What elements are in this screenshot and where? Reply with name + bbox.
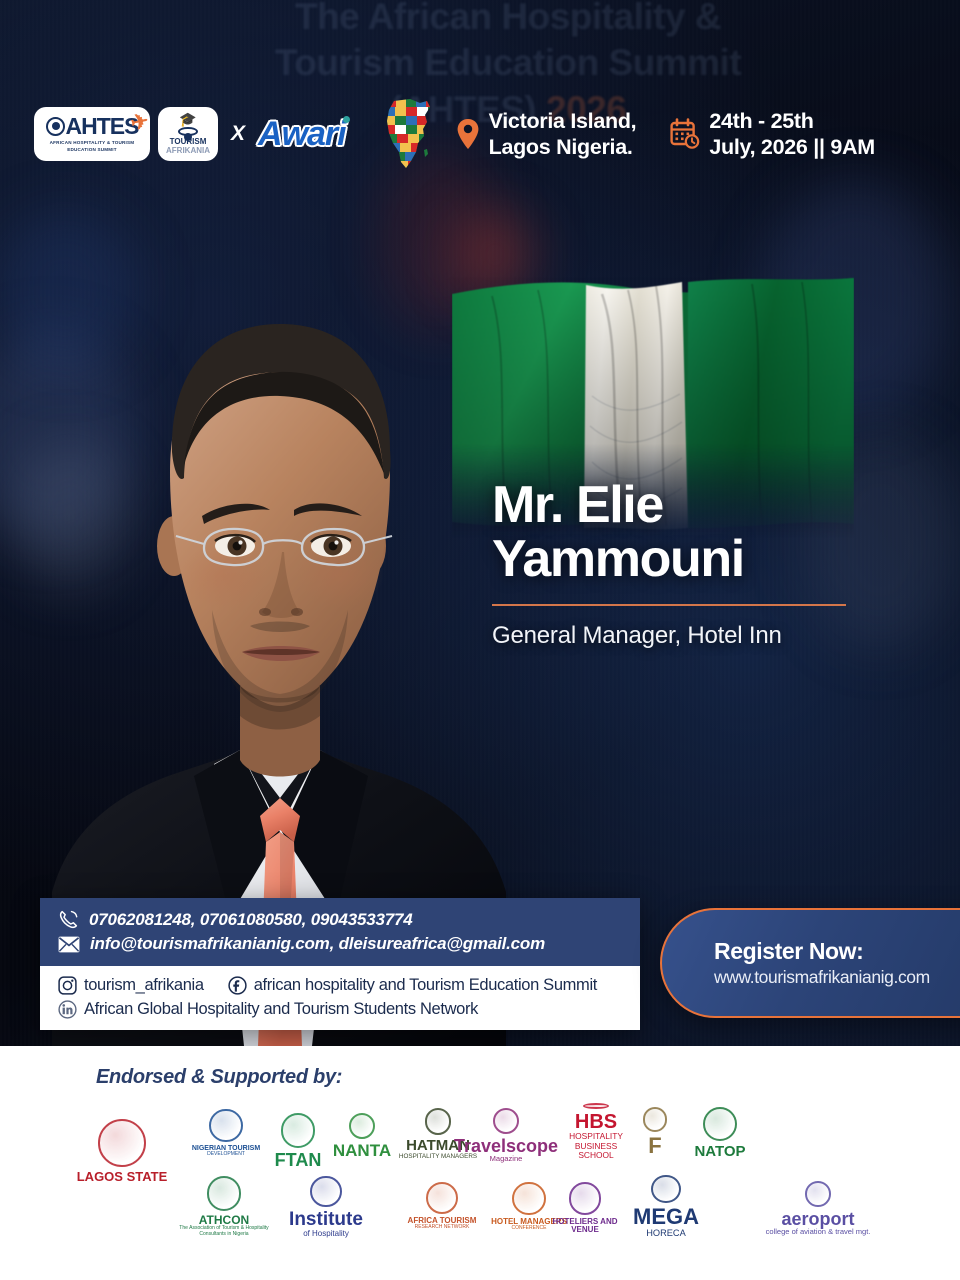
instagram-handle: tourism_afrikania: [84, 976, 204, 995]
africa-map-icon: [380, 98, 442, 170]
event-location: Victoria Island, Lagos Nigeria.: [456, 108, 637, 160]
register-now-panel[interactable]: Register Now: www.tourismafrikanianig.co…: [660, 908, 960, 1018]
phone-numbers: 07062081248, 07061080580, 09043533774: [89, 910, 413, 930]
partner-logo-emblem: [493, 1108, 520, 1135]
partner-logo: MEGAHORECA: [606, 1175, 726, 1239]
partner-logo: HBSHOSPITALITY BUSINESS SCHOOL: [556, 1103, 636, 1161]
partner-logo-subtitle: college of aviation & travel mgt.: [766, 1228, 871, 1237]
speaker-role: General Manager, Hotel Inn: [492, 622, 922, 650]
partner-logo-emblem: [349, 1113, 376, 1140]
partner-logo-emblem: [643, 1107, 668, 1132]
partner-logo-emblem: [98, 1119, 146, 1167]
social-details: tourism_afrikania african hospitality an…: [40, 966, 640, 1030]
partner-logo-emblem: [426, 1182, 458, 1214]
partner-logo-subtitle: HORECA: [646, 1228, 686, 1239]
partner-logo-emblem: [281, 1113, 316, 1148]
partner-logo-emblem: [651, 1175, 680, 1203]
tourism-afrikania-logo: 🎓 TOURISM AFRIKANIA: [158, 107, 218, 161]
date-line2: July, 2026 || 9AM: [709, 135, 874, 159]
partner-logo-name: MEGA: [633, 1206, 699, 1228]
event-location-text: Victoria Island, Lagos Nigeria.: [489, 108, 637, 160]
register-title: Register Now:: [714, 938, 960, 965]
partner-logo-emblem: [569, 1182, 601, 1214]
partner-logo-emblem: [805, 1181, 831, 1207]
awari-logo: Awari: [258, 117, 346, 151]
speaker-name-line1: Mr. Elie: [492, 476, 663, 534]
location-line1: Victoria Island,: [489, 109, 637, 133]
partner-logo-subtitle: RESEARCH NETWORK: [415, 1225, 470, 1231]
partner-logo-emblem: [209, 1109, 242, 1142]
phone-row[interactable]: 07062081248, 07061080580, 09043533774: [58, 909, 622, 930]
partner-logo-emblem: [310, 1176, 341, 1207]
partner-logo-field: LAGOS STATENIGERIAN TOURISMDEVELOPMENTFT…: [0, 1093, 960, 1251]
afrikania-circle-icon: [178, 127, 198, 136]
graduation-cap-icon: 🎓: [179, 112, 196, 126]
poster-header: AHTES ✈ AFRICAN HOSPITALITY & TOURISM ED…: [0, 96, 960, 172]
partner-logo-name: FTAN: [275, 1151, 322, 1169]
partner-logo: Instituteof Hospitality: [256, 1173, 396, 1241]
partner-logo: NATOP: [678, 1095, 762, 1171]
event-date: 24th - 25th July, 2026 || 9AM: [670, 108, 874, 160]
ahtes-logo-text: AHTES: [66, 115, 139, 138]
partner-logo-subtitle: HOSPITALITY BUSINESS SCHOOL: [556, 1132, 636, 1161]
partner-logo-emblem: [207, 1176, 242, 1211]
partner-logo-emblem: [425, 1108, 452, 1135]
ahtes-logo-subtitle: AFRICAN HOSPITALITY & TOURISM EDUCATION …: [43, 140, 141, 153]
contact-details: 07062081248, 07061080580, 09043533774 in…: [40, 898, 640, 966]
phone-icon: [58, 909, 79, 930]
speaker-name: Mr. Elie Yammouni: [492, 478, 922, 586]
calendar-clock-icon: [670, 118, 700, 150]
speaker-name-line2: Yammouni: [492, 530, 744, 588]
partner-logo-subtitle: Magazine: [490, 1155, 523, 1164]
linkedin-icon[interactable]: [58, 1000, 77, 1019]
partner-logo: F: [628, 1101, 682, 1163]
partner-logo: TravelscopeMagazine: [452, 1107, 560, 1165]
event-poster: The African Hospitality & Tourism Educat…: [0, 0, 960, 1046]
date-line1: 24th - 25th: [709, 109, 813, 133]
partner-logo: LAGOS STATE: [66, 1099, 178, 1203]
partner-logo-emblem: [583, 1103, 610, 1109]
ahtes-logo: AHTES ✈ AFRICAN HOSPITALITY & TOURISM ED…: [34, 107, 150, 161]
ahtes-logo-mark: AHTES ✈: [46, 115, 139, 138]
email-row[interactable]: info@tourismafrikanianig.com, dleisureaf…: [58, 934, 622, 954]
speaker-block: Mr. Elie Yammouni General Manager, Hotel…: [492, 478, 922, 650]
collab-symbol: X: [231, 122, 245, 146]
facebook-icon[interactable]: [228, 976, 247, 995]
social-row-primary: tourism_afrikania african hospitality an…: [58, 976, 622, 995]
email-icon: [58, 936, 80, 953]
logo-cluster: AHTES ✈ AFRICAN HOSPITALITY & TOURISM ED…: [34, 107, 346, 161]
partner-logo-name: NANTA: [333, 1142, 391, 1159]
plane-swoosh-icon: ✈: [129, 110, 150, 134]
social-row-secondary: African Global Hospitality and Tourism S…: [58, 1000, 622, 1019]
event-date-text: 24th - 25th July, 2026 || 9AM: [709, 108, 874, 160]
partners-band: Endorsed & Supported by: LAGOS STATENIGE…: [0, 1046, 960, 1264]
linkedin-page: African Global Hospitality and Tourism S…: [84, 1000, 478, 1019]
partner-logo-name: F: [648, 1135, 661, 1157]
partner-logo-subtitle: of Hospitality: [303, 1229, 349, 1238]
email-addresses: info@tourismafrikanianig.com, dleisureaf…: [90, 934, 545, 954]
afrikania-line2: AFRIKANIA: [166, 146, 210, 156]
partner-logo-emblem: [512, 1182, 545, 1215]
partner-logo-name: aeroport: [781, 1210, 854, 1228]
partner-logo: AFRICA TOURISMRESEARCH NETWORK: [392, 1171, 492, 1241]
partner-logo-name: HBS: [575, 1112, 617, 1132]
endorsed-heading: Endorsed & Supported by:: [96, 1066, 960, 1089]
ahtes-circle-icon: [46, 117, 65, 136]
contact-card: 07062081248, 07061080580, 09043533774 in…: [40, 898, 640, 1030]
partner-logo: NIGERIAN TOURISMDEVELOPMENT: [184, 1097, 268, 1169]
partner-logo-name: Travelscope: [454, 1137, 558, 1155]
partner-logo-subtitle: DEVELOPMENT: [207, 1152, 245, 1158]
event-meta: Victoria Island, Lagos Nigeria.: [456, 108, 875, 160]
speaker-divider: [492, 604, 846, 606]
instagram-icon[interactable]: [58, 976, 77, 995]
location-line2: Lagos Nigeria.: [489, 135, 633, 159]
partner-logo-name: NATOP: [694, 1144, 745, 1159]
location-pin-icon: [456, 118, 480, 150]
register-url[interactable]: www.tourismafrikanianig.com: [714, 967, 960, 988]
partner-logo-subtitle: CONFERENCE: [511, 1226, 546, 1232]
awari-logo-text: Awari: [258, 115, 346, 153]
partner-logo-name: LAGOS STATE: [77, 1170, 168, 1183]
facebook-page: african hospitality and Tourism Educatio…: [254, 976, 597, 995]
partner-logo: aeroportcollege of aviation & travel mgt…: [718, 1181, 918, 1237]
partner-logo-name: Institute: [289, 1210, 363, 1229]
awari-dot-icon: [343, 116, 350, 123]
partner-logo-emblem: [703, 1107, 738, 1142]
